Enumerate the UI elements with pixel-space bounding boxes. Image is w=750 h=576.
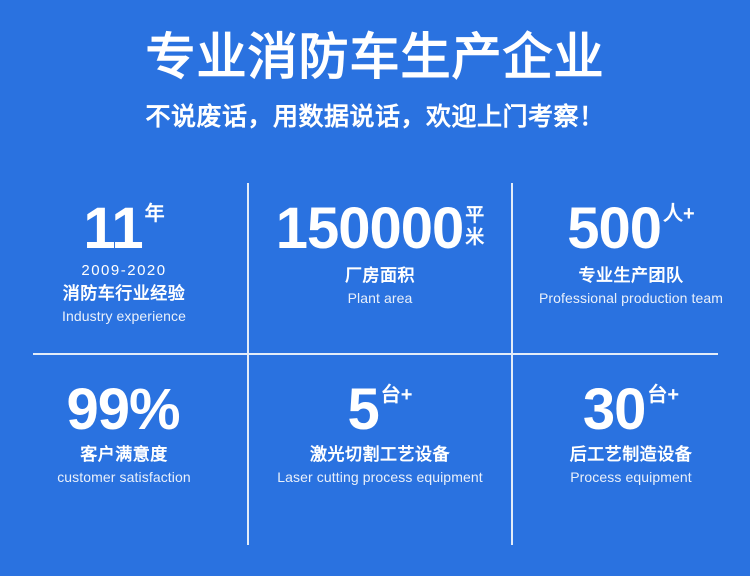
banner-header: 专业消防车生产企业 不说废话，用数据说话，欢迎上门考察！ [0, 0, 750, 134]
stat-number-line: 500 人+ [567, 201, 694, 256]
headline: 专业消防车生产企业 [0, 26, 750, 88]
stat-label-cn: 激光切割工艺设备 [310, 445, 450, 465]
stat-label-en: Industry experience [62, 308, 186, 325]
stat-unit: 年 [145, 204, 165, 225]
stat-card-plant-area: 150000 平 米 厂房面积 Plant area [248, 183, 512, 354]
stat-label-cn: 消防车行业经验 [63, 284, 186, 304]
stat-number: 11 [83, 201, 142, 256]
stat-unit: 台+ [381, 385, 413, 406]
stat-unit-line-2: 米 [465, 227, 484, 249]
stat-label-cn: 厂房面积 [345, 266, 415, 286]
stat-card-production-team: 500 人+ 专业生产团队 Professional production te… [512, 183, 750, 354]
stat-unit: 台+ [647, 385, 679, 406]
stat-number: 500 [567, 201, 661, 256]
stat-label-en: Plant area [348, 290, 413, 307]
stat-card-laser-cutting: 5 台+ 激光切割工艺设备 Laser cutting process equi… [248, 354, 512, 545]
stats-grid: 11 年 2009-2020 消防车行业经验 Industry experien… [0, 183, 750, 545]
stat-card-industry-experience: 11 年 2009-2020 消防车行业经验 Industry experien… [0, 183, 248, 354]
stat-number-line: 99% [66, 382, 181, 437]
promo-banner: 专业消防车生产企业 不说废话，用数据说话，欢迎上门考察！ 11 年 2009-2… [0, 0, 750, 576]
stat-unit: 人+ [663, 204, 695, 225]
grid-divider-vertical-left [247, 183, 249, 545]
stat-label-cn: 客户满意度 [80, 445, 168, 465]
stat-label-cn: 专业生产团队 [579, 266, 684, 286]
stat-label-en: customer satisfaction [57, 469, 191, 486]
stat-year-range: 2009-2020 [81, 263, 166, 280]
grid-divider-vertical-right [511, 183, 513, 545]
stat-number: 150000 [276, 201, 464, 256]
stat-label-en: Professional production team [539, 290, 723, 307]
stat-number-line: 150000 平 米 [276, 201, 485, 256]
subheadline: 不说废话，用数据说话，欢迎上门考察！ [0, 100, 750, 134]
stat-card-customer-satisfaction: 99% 客户满意度 customer satisfaction [0, 354, 248, 545]
stat-card-process-equipment: 30 台+ 后工艺制造设备 Process equipment [512, 354, 750, 545]
stat-number: 5 [348, 382, 379, 437]
stat-label-en: Laser cutting process equipment [277, 469, 482, 486]
stat-number-line: 11 年 [83, 201, 164, 256]
stat-unit: 平 米 [465, 205, 484, 249]
stat-number-line: 30 台+ [583, 382, 679, 437]
stat-label-en: Process equipment [570, 469, 692, 486]
stat-label-cn: 后工艺制造设备 [570, 445, 693, 465]
stat-number: 99% [66, 382, 179, 437]
stat-number: 30 [583, 382, 646, 437]
stat-number-line: 5 台+ [348, 382, 413, 437]
grid-divider-horizontal [33, 353, 718, 355]
stat-unit-line-1: 平 [465, 205, 484, 227]
